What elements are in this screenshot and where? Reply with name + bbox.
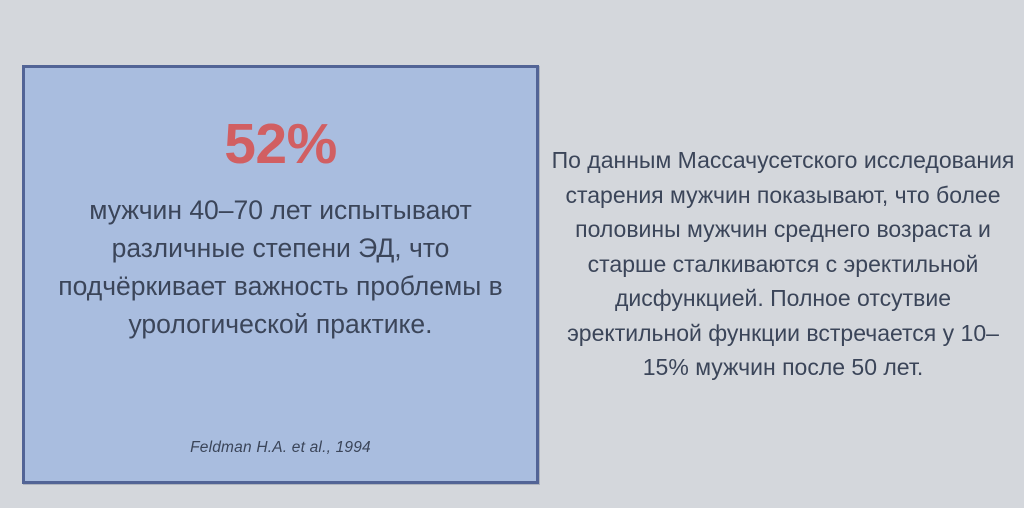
statistic-callout-box: 52% мужчин 40–70 лет испытывают различны… bbox=[22, 65, 539, 484]
statistic-content: 52% мужчин 40–70 лет испытывают различны… bbox=[25, 68, 536, 343]
statistic-citation: Feldman H.A. et al., 1994 bbox=[25, 439, 536, 457]
slide-canvas: 52% мужчин 40–70 лет испытывают различны… bbox=[0, 0, 1024, 508]
statistic-body-text: мужчин 40–70 лет испытывают различные ст… bbox=[55, 191, 507, 343]
statistic-percent-value: 52% bbox=[25, 116, 536, 173]
description-paragraph: По данным Массачусетского исследования с… bbox=[548, 143, 1018, 385]
